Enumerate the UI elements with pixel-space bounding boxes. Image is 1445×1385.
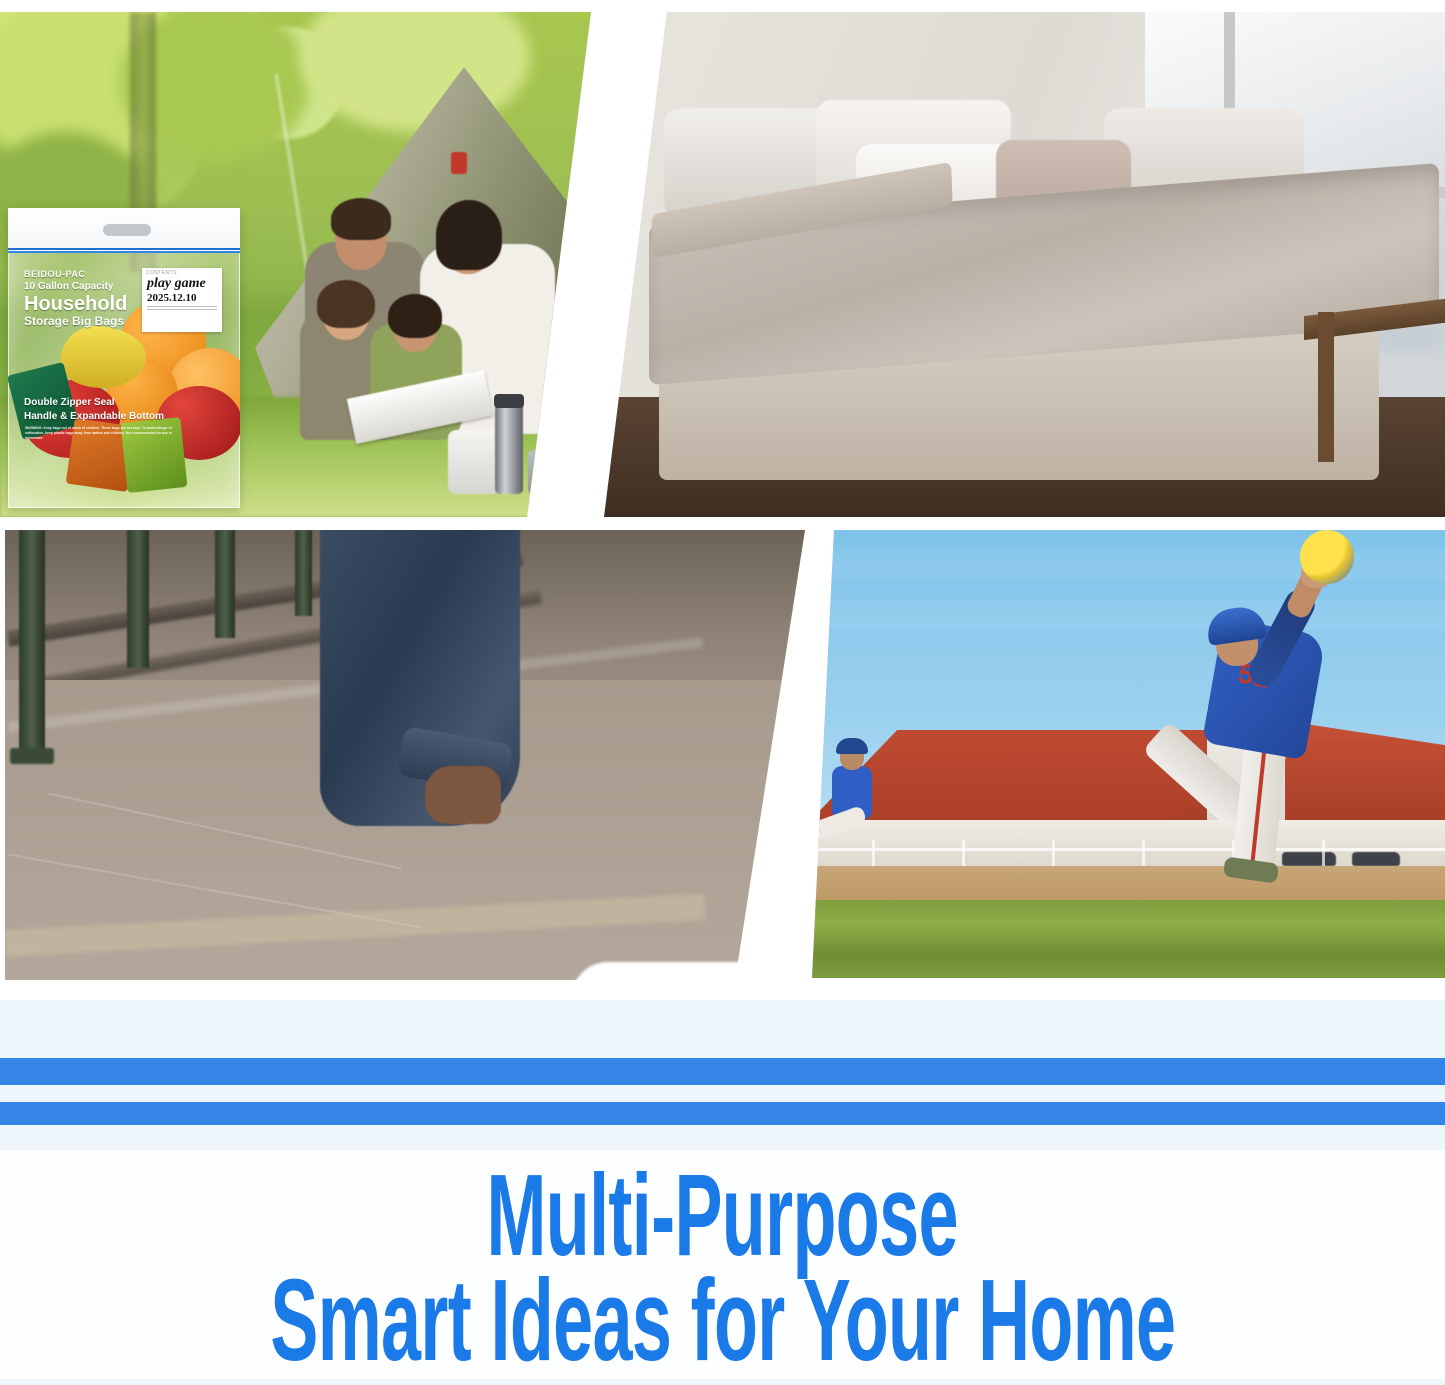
headline-block: Multi-Purpose Smart Ideas for Your Home: [0, 1150, 1445, 1379]
white-pill-overlay: [571, 962, 811, 1000]
fence-post: [962, 840, 965, 866]
platform-pillar: [295, 530, 312, 616]
label-date-value: 2025.12.10: [142, 292, 222, 304]
hand-holding-bag: [425, 766, 501, 824]
fence-post: [1142, 840, 1145, 866]
platform-pillar: [19, 530, 45, 760]
product-bag-fruit: BEIDOU-PAC 10 Gallon Capacity Household …: [8, 208, 240, 508]
panel-ball-field: 51: [812, 530, 1445, 978]
bag-contents-fruit: [8, 208, 240, 508]
bag-zipper: [8, 248, 240, 253]
outfield-grass: [812, 900, 1445, 978]
fence-post: [1322, 840, 1325, 866]
platform-pillar: [127, 530, 149, 668]
pillar-base: [10, 748, 54, 764]
adult-hair: [436, 200, 502, 270]
bag-features: Double Zipper Seal Handle & Expandable B…: [24, 396, 164, 423]
divider-bands: [0, 1028, 1445, 1148]
image-collage: BEIDOU-PAC 10 Gallon Capacity Household …: [0, 0, 1445, 1000]
label-handwritten-value: play game: [142, 276, 222, 292]
divider-band-top: [0, 1058, 1445, 1085]
bag-contents-label: CONTENTS: play game 2025.12.10: [142, 268, 222, 332]
thermos-flask: [495, 402, 523, 494]
building-wall: [812, 820, 1445, 868]
tent-peg: [451, 152, 467, 174]
divider-band-bottom: [0, 1102, 1445, 1125]
bench-leg: [1318, 312, 1334, 462]
volleyball: [1300, 530, 1354, 584]
player-cap: [836, 738, 868, 754]
bag-warning-text: WARNING: Keep bags out of reach of child…: [25, 426, 175, 441]
platform-pillar: [215, 530, 235, 638]
thermos-cap: [494, 394, 524, 408]
panel-train-platform: BEIDOU-PAC 10 Gallon Capacity Household …: [5, 530, 805, 980]
panel-camping: BEIDOU-PAC 10 Gallon Capacity Household …: [0, 12, 600, 517]
field-fence: [812, 848, 1445, 851]
child-hair: [388, 294, 442, 338]
parked-car: [1282, 852, 1336, 866]
bedroom-scene: [604, 12, 1445, 517]
station-scene: [5, 530, 805, 980]
fence-post: [872, 840, 875, 866]
headline-line-2: Smart Ideas for Your Home: [270, 1266, 1175, 1375]
adult-hair: [331, 198, 391, 240]
headline-line-1: Multi-Purpose: [487, 1164, 958, 1266]
child-hair: [317, 280, 375, 328]
label-caption: CONTENTS:: [142, 268, 222, 276]
panel-bedroom: BEIDOU-PAC 10 Gallon Capacity Household …: [604, 12, 1445, 517]
cooler-box: [528, 450, 588, 494]
water-jug: [448, 430, 500, 494]
parked-car: [1352, 852, 1400, 866]
mow-stripe: [812, 600, 1445, 630]
ballfield-scene: 51: [812, 530, 1445, 978]
bag-handle-slot: [102, 223, 152, 237]
bag-feature-1: Double Zipper Seal: [24, 396, 164, 410]
blue-duffel-bag: [565, 394, 600, 504]
bag-feature-2: Handle & Expandable Bottom: [24, 410, 164, 424]
fence-post: [1052, 840, 1055, 866]
bag-header: [8, 208, 240, 248]
